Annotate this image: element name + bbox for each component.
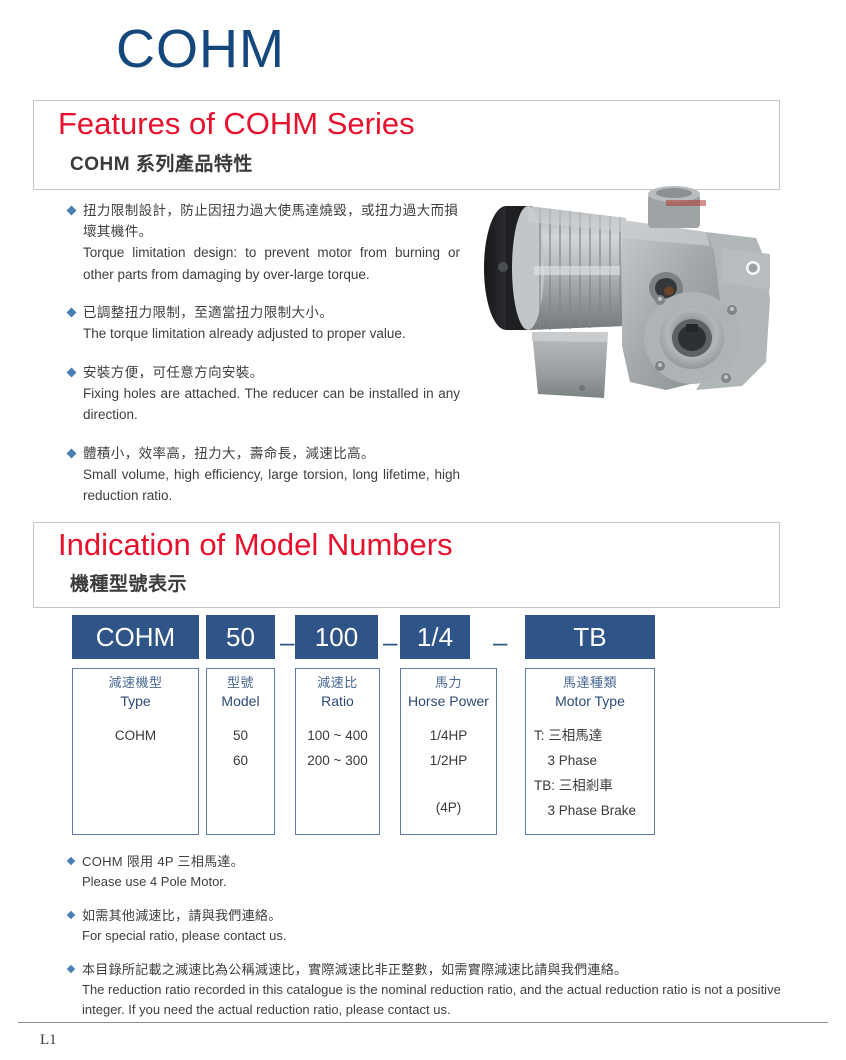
feature-zh-label: 體積小，效率高，扭力大，壽命長，減速比高。 xyxy=(83,446,375,461)
column-header-zh: 馬力 xyxy=(401,674,496,692)
note-zh-label: 如需其他減速比，請與我們連絡。 xyxy=(82,908,282,923)
diamond-bullet-icon xyxy=(67,448,77,458)
feature-text-en: Small volume, high efficiency, large tor… xyxy=(68,464,460,507)
feature-text-zh: 扭力限制設計，防止因扭力過大使馬達燒毀，或扭力過大而損壞其機件。 xyxy=(68,200,460,242)
cell-value: 50 xyxy=(207,723,274,748)
spec-column-motor-type: 馬達種類 Motor Type T: 三相馬達 3 Phase TB: 三相剎車… xyxy=(525,668,655,835)
column-header-en: Ratio xyxy=(296,692,379,711)
model-title-en: Indication of Model Numbers xyxy=(58,527,453,563)
model-heading-box: Indication of Model Numbers 機種型號表示 xyxy=(33,522,780,608)
cell-value: 1/2HP xyxy=(401,748,496,773)
notes-list: COHM 限用 4P 三相馬達。 Please use 4 Pole Motor… xyxy=(68,852,798,1034)
note-zh-label: 本目錄所記載之減速比為公稱減速比，實際減速比非正整數，如需實際減速比請與我們連絡… xyxy=(82,962,627,977)
code-dash: – xyxy=(383,629,397,655)
feature-text-zh: 已調整扭力限制，至適當扭力限制大小。 xyxy=(68,302,460,323)
cell-value: 3 Phase Brake xyxy=(534,798,654,823)
column-values: T: 三相馬達 3 Phase TB: 三相剎車 3 Phase Brake xyxy=(526,723,654,823)
cell-value: 1/4HP xyxy=(401,723,496,748)
code-box-motor-type[interactable]: TB xyxy=(525,615,655,659)
page-number: L1 xyxy=(40,1032,57,1049)
cell-value: 60 xyxy=(207,748,274,773)
motor-finned-housing xyxy=(512,206,626,330)
spec-column-horsepower: 馬力 Horse Power 1/4HP 1/2HP (4P) xyxy=(400,668,497,835)
feature-list: 扭力限制設計，防止因扭力過大使馬達燒毀，或扭力過大而損壞其機件。 Torque … xyxy=(68,200,460,524)
list-item: COHM 限用 4P 三相馬達。 Please use 4 Pole Motor… xyxy=(68,852,798,892)
diamond-bullet-icon xyxy=(67,308,77,318)
features-title-zh: COHM 系列產品特性 xyxy=(70,149,253,176)
column-header-zh: 型號 xyxy=(207,674,274,692)
code-box-type[interactable]: COHM xyxy=(72,615,199,659)
feature-text-en: Torque limitation design: to prevent mot… xyxy=(68,242,460,285)
cell-spacer xyxy=(401,773,496,795)
note-text-en: For special ratio, please contact us. xyxy=(68,926,798,946)
list-item: 體積小，效率高，扭力大，壽命長，減速比高。 Small volume, high… xyxy=(68,443,460,507)
list-item: 如需其他減速比，請與我們連絡。 For special ratio, pleas… xyxy=(68,906,798,946)
cell-value: T: 三相馬達 xyxy=(534,723,654,748)
column-values: 1/4HP 1/2HP (4P) xyxy=(401,723,496,820)
list-item: 本目錄所記載之減速比為公稱減速比，實際減速比非正整數，如需實際減速比請與我們連絡… xyxy=(68,960,798,1020)
diamond-bullet-icon xyxy=(67,965,75,973)
cell-value: 3 Phase xyxy=(534,748,654,773)
list-item: 安裝方便，可任意方向安裝。 Fixing holes are attached.… xyxy=(68,362,460,426)
note-text-en: Please use 4 Pole Motor. xyxy=(68,872,798,892)
column-header-en: Type xyxy=(73,692,198,711)
features-title-en: Features of COHM Series xyxy=(58,106,415,142)
code-box-model[interactable]: 50 xyxy=(206,615,275,659)
cell-value: TB: 三相剎車 xyxy=(534,773,654,798)
spec-column-ratio: 減速比 Ratio 100 ~ 400 200 ~ 300 xyxy=(295,668,380,835)
cell-value: (4P) xyxy=(401,795,496,820)
column-values: 50 60 xyxy=(207,723,274,773)
note-text-en: The reduction ratio recorded in this cat… xyxy=(68,980,798,1020)
page-title: COHM xyxy=(116,22,285,76)
column-header-zh: 減速機型 xyxy=(73,674,198,692)
note-zh-label: COHM 限用 4P 三相馬達。 xyxy=(82,854,244,869)
code-dash: – xyxy=(280,629,294,655)
feature-zh-label: 安裝方便，可任意方向安裝。 xyxy=(83,365,264,380)
code-dash: – xyxy=(493,629,507,655)
diamond-bullet-icon xyxy=(67,857,75,865)
diamond-bullet-icon xyxy=(67,367,77,377)
gearbox-housing xyxy=(622,186,770,390)
footer-divider xyxy=(18,1022,828,1023)
feature-text-en: The torque limitation already adjusted t… xyxy=(68,323,460,345)
feature-text-en: Fixing holes are attached. The reducer c… xyxy=(68,383,460,426)
cell-value: 200 ~ 300 xyxy=(296,748,379,773)
column-values: 100 ~ 400 200 ~ 300 xyxy=(296,723,379,773)
code-box-horsepower[interactable]: 1/4 xyxy=(400,615,470,659)
breather-cap xyxy=(648,186,706,228)
note-text-zh: 如需其他減速比，請與我們連絡。 xyxy=(68,906,798,926)
code-box-ratio[interactable]: 100 xyxy=(295,615,378,659)
feature-text-zh: 安裝方便，可任意方向安裝。 xyxy=(68,362,460,383)
feature-zh-label: 扭力限制設計，防止因扭力過大使馬達燒毀，或扭力過大而損壞其機件。 xyxy=(83,203,458,239)
column-values: COHM xyxy=(73,723,198,748)
column-header-zh: 減速比 xyxy=(296,674,379,692)
cell-value: 100 ~ 400 xyxy=(296,723,379,748)
column-header-en: Motor Type xyxy=(526,692,654,711)
note-text-zh: 本目錄所記載之減速比為公稱減速比，實際減速比非正整數，如需實際減速比請與我們連絡… xyxy=(68,960,798,980)
spec-column-type: 減速機型 Type COHM xyxy=(72,668,199,835)
column-header-zh: 馬達種類 xyxy=(526,674,654,692)
column-header-en: Horse Power xyxy=(401,692,496,711)
spec-column-model: 型號 Model 50 60 xyxy=(206,668,275,835)
cell-value: COHM xyxy=(73,723,198,748)
feature-text-zh: 體積小，效率高，扭力大，壽命長，減速比高。 xyxy=(68,443,460,464)
terminal-box xyxy=(532,332,608,398)
note-text-zh: COHM 限用 4P 三相馬達。 xyxy=(68,852,798,872)
feature-zh-label: 已調整扭力限制，至適當扭力限制大小。 xyxy=(83,305,333,320)
list-item: 已調整扭力限制，至適當扭力限制大小。 The torque limitation… xyxy=(68,302,460,345)
list-item: 扭力限制設計，防止因扭力過大使馬達燒毀，或扭力過大而損壞其機件。 Torque … xyxy=(68,200,460,285)
column-header-en: Model xyxy=(207,692,274,711)
diamond-bullet-icon xyxy=(67,911,75,919)
product-photo xyxy=(470,150,800,410)
diamond-bullet-icon xyxy=(67,206,77,216)
model-title-zh: 機種型號表示 xyxy=(70,569,187,596)
